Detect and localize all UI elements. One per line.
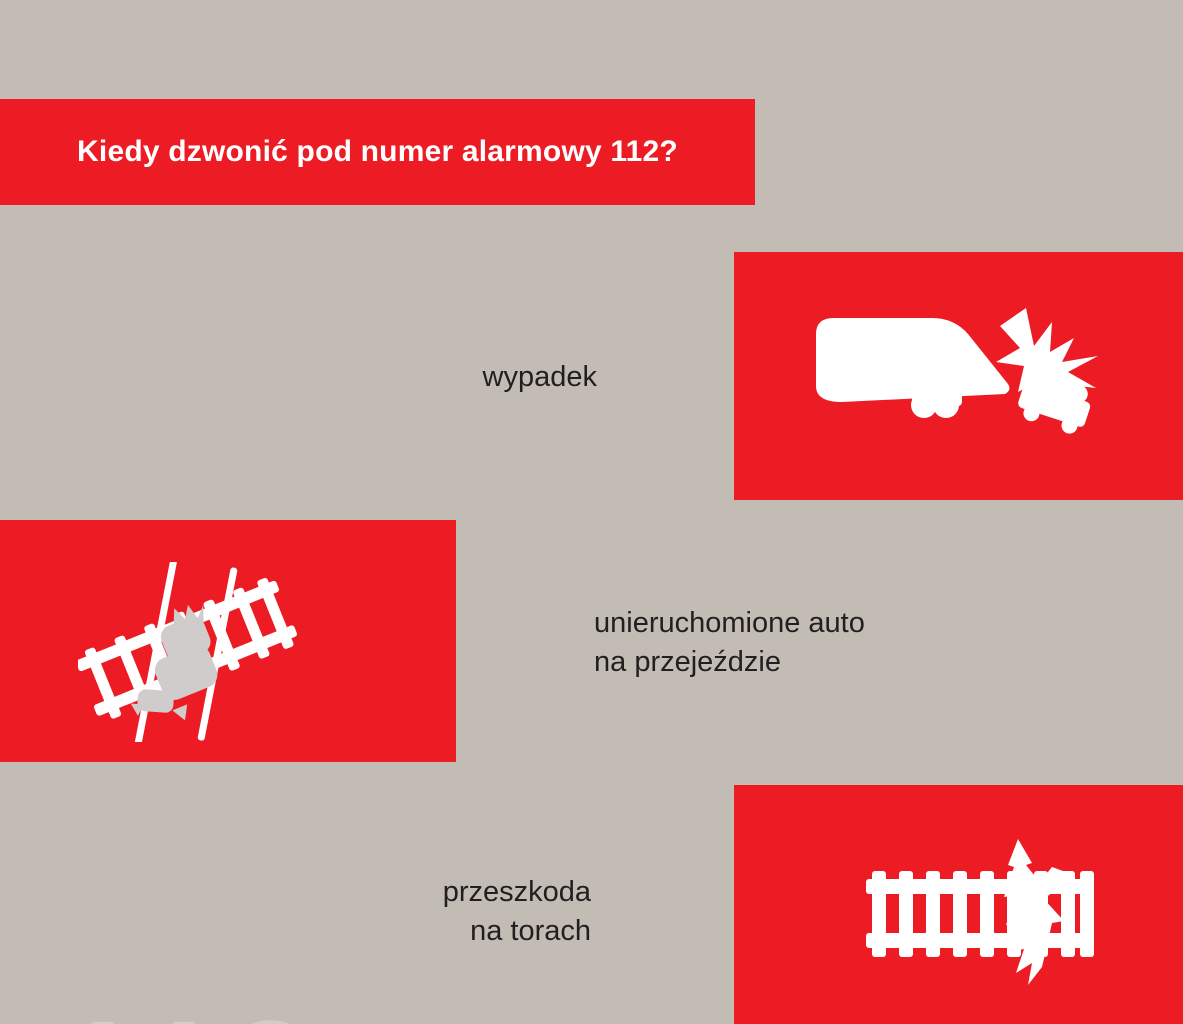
caption-line: na przejeździe [594, 643, 1014, 682]
caption-line: wypadek [300, 358, 597, 397]
icon-panel-accident [734, 252, 1183, 500]
caption-accident: wypadek [300, 358, 597, 397]
watermark-number: 112 [58, 998, 318, 1024]
caption-line: na torach [300, 912, 591, 951]
icon-panel-car-on-crossing [0, 520, 456, 762]
caption-obstacle: przeszkoda na torach [300, 873, 591, 950]
page-title: Kiedy dzwonić pod numer alarmowy 112? [77, 135, 678, 169]
caption-line: przeszkoda [300, 873, 591, 912]
caption-car-on-crossing: unieruchomione auto na przejeździe [594, 604, 1014, 681]
title-banner: Kiedy dzwonić pod numer alarmowy 112? [0, 99, 755, 205]
poster-canvas: 112 Kiedy dzwonić pod numer alarmowy 112… [0, 0, 1183, 1024]
car-stuck-on-crossing-icon [78, 562, 298, 742]
vehicle-collision-icon [812, 300, 1112, 440]
caption-line: unieruchomione auto [594, 604, 1014, 643]
icon-panel-obstacle [734, 785, 1183, 1024]
obstacle-on-tracks-icon [866, 837, 1116, 987]
